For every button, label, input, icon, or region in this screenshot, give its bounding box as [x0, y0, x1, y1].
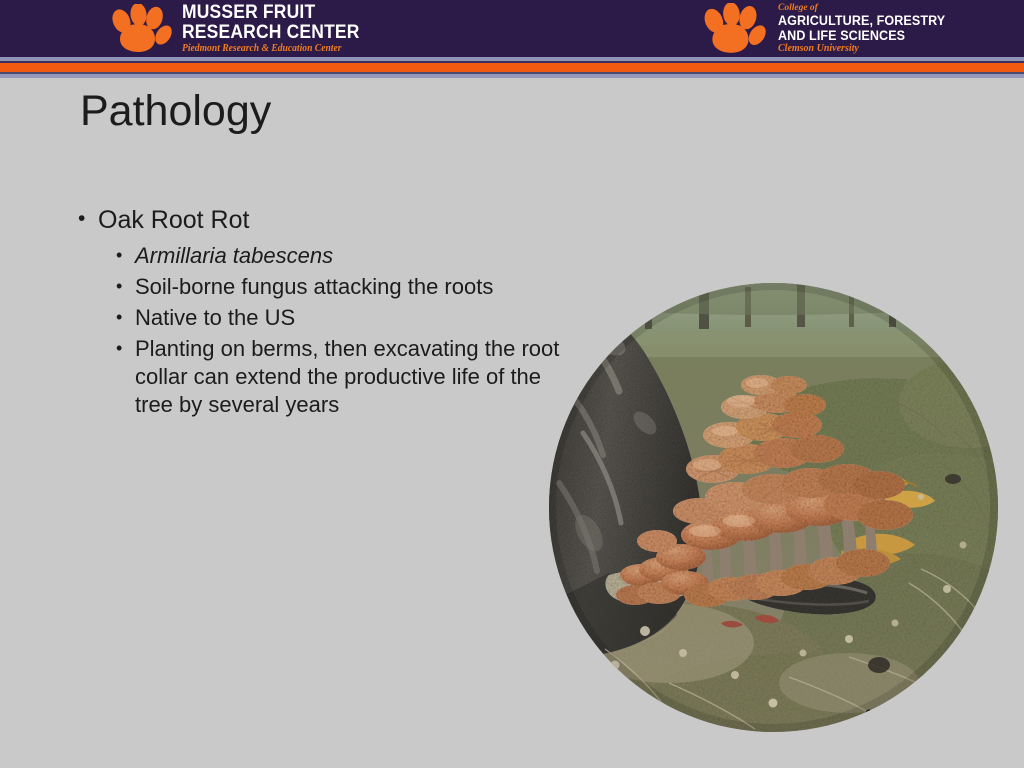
slide-body: • Oak Root Rot • Armillaria tabescens • … — [78, 205, 578, 422]
bullet-level2: • Planting on berms, then excavating the… — [116, 335, 578, 419]
clemson-logo-text: College of AGRICULTURE, FORESTRY AND LIF… — [778, 4, 958, 55]
musser-logo-subtitle: Piedmont Research & Education Center — [182, 44, 367, 54]
bullet-level2: • Native to the US — [116, 304, 578, 332]
bullet-marker-icon: • — [116, 242, 135, 268]
clemson-logo-line1: AGRICULTURE, FORESTRY — [778, 14, 945, 28]
clemson-tiger-paw-icon — [700, 3, 766, 55]
bullet-level2-text: Native to the US — [135, 304, 578, 332]
armillaria-mushroom-cluster-photo — [549, 283, 998, 732]
musser-logo-text: MUSSER FRUIT RESEARCH CENTER Piedmont Re… — [182, 3, 375, 54]
slide-title: Pathology — [80, 88, 271, 135]
bullet-level2-text: Armillaria tabescens — [135, 242, 578, 270]
clemson-tiger-paw-icon — [108, 4, 172, 54]
musser-fruit-research-center-logo: MUSSER FRUIT RESEARCH CENTER Piedmont Re… — [108, 3, 375, 54]
bullet-marker-icon: • — [116, 304, 135, 330]
bullet-marker-icon: • — [116, 335, 135, 361]
bullet-level2: • Armillaria tabescens — [116, 242, 578, 270]
bullet-marker-icon: • — [116, 273, 135, 299]
clemson-cafls-logo: College of AGRICULTURE, FORESTRY AND LIF… — [700, 3, 958, 55]
bullet-marker-icon: • — [78, 205, 98, 233]
header-accent-line-orange — [0, 63, 1024, 72]
bullet-level1-text: Oak Root Rot — [98, 205, 249, 236]
clemson-logo-subtitle: Clemson University — [778, 44, 958, 54]
bullet-level2-text: Soil-borne fungus attacking the roots — [135, 273, 578, 301]
musser-logo-line2: RESEARCH CENTER — [182, 23, 360, 42]
bullet-level1: • Oak Root Rot — [78, 205, 578, 236]
musser-logo-line1: MUSSER FRUIT — [182, 3, 360, 22]
header-accent-line-lightblue-bottom — [0, 74, 1024, 78]
bullet-level2-text: Planting on berms, then excavating the r… — [135, 335, 578, 419]
photo-illustration — [549, 283, 998, 732]
clemson-logo-pretext: College of — [778, 4, 958, 14]
sub-bullet-list: • Armillaria tabescens • Soil-borne fung… — [116, 242, 578, 420]
bullet-level2: • Soil-borne fungus attacking the roots — [116, 273, 578, 301]
clemson-logo-line2: AND LIFE SCIENCES — [778, 29, 945, 43]
